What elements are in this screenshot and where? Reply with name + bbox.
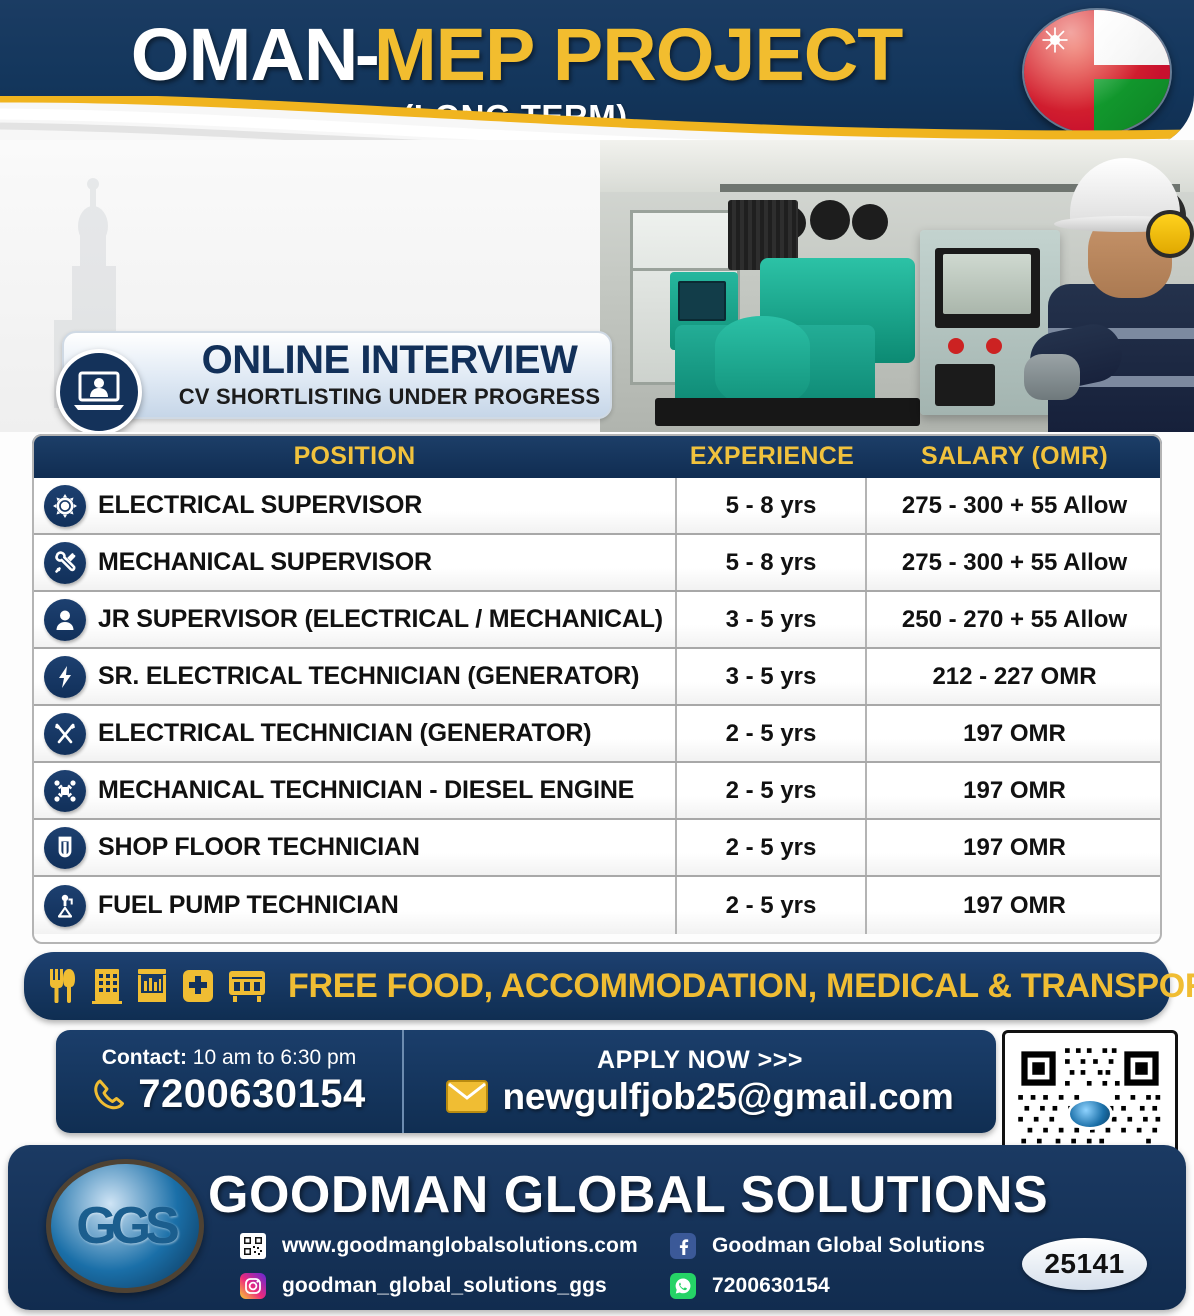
- page-subtitle: (LONG TERM): [0, 98, 1030, 136]
- table-row: FUEL PUMP TECHNICIAN 2 - 5 yrs 197 OMR: [32, 877, 1162, 934]
- cutlery-icon: [48, 967, 78, 1005]
- experience-value: 2 - 5 yrs: [726, 834, 817, 862]
- facebook-name: Goodman Global Solutions: [712, 1234, 985, 1258]
- crossed-tools-icon: [44, 713, 86, 755]
- bus-icon: [228, 968, 266, 1004]
- table-row: MECHANICAL TECHNICIAN - DIESEL ENGINE 2 …: [32, 763, 1162, 820]
- position-label: JR SUPERVISOR (ELECTRICAL / MECHANICAL): [98, 605, 663, 634]
- footer-instagram[interactable]: goodman_global_solutions_ggs: [240, 1273, 670, 1299]
- medical-cross-icon: [181, 968, 215, 1004]
- apply-now-label: APPLY NOW >>>: [597, 1046, 803, 1075]
- instagram-icon: [240, 1273, 266, 1299]
- magnet-icon: [44, 827, 86, 869]
- salary-value: 212 - 227 OMR: [932, 663, 1096, 691]
- company-name: GOODMAN GLOBAL SOLUTIONS: [208, 1165, 1048, 1225]
- ggs-globe-logo: [1070, 1101, 1110, 1127]
- table-header-row: POSITION EXPERIENCE SALARY (OMR): [32, 434, 1162, 478]
- experience-value: 3 - 5 yrs: [726, 663, 817, 691]
- worker-figure: [1030, 158, 1194, 432]
- footer-links: www.goodmanglobalsolutions.com Goodman G…: [240, 1233, 1120, 1299]
- salary-value: 197 OMR: [963, 892, 1066, 920]
- salary-value: 197 OMR: [963, 834, 1066, 862]
- position-label: SHOP FLOOR TECHNICIAN: [98, 833, 420, 862]
- facebook-icon: [670, 1233, 696, 1259]
- experience-value: 3 - 5 yrs: [726, 606, 817, 634]
- column-header-position: POSITION: [32, 442, 677, 471]
- contact-bar: Contact: 10 am to 6:30 pm 7200630154 APP…: [56, 1030, 996, 1133]
- table-row: ELECTRICAL SUPERVISOR 5 - 8 yrs 275 - 30…: [32, 478, 1162, 535]
- experience-value: 5 - 8 yrs: [726, 492, 817, 520]
- salary-value: 250 - 270 + 55 Allow: [902, 606, 1127, 634]
- footer-bar: GGS GOODMAN GLOBAL SOLUTIONS www.goodman…: [8, 1145, 1186, 1310]
- benefits-text: FREE FOOD, ACCOMMODATION, MEDICAL & TRAN…: [288, 967, 1194, 1006]
- position-label: ELECTRICAL SUPERVISOR: [98, 491, 422, 520]
- position-label: MECHANICAL SUPERVISOR: [98, 548, 432, 577]
- website-url: www.goodmanglobalsolutions.com: [282, 1234, 638, 1258]
- store-icon: [136, 967, 168, 1005]
- highlight-pills: ONLINE INTERVIEW CV SHORTLISTING UNDER P…: [10, 325, 620, 432]
- footer-website[interactable]: www.goodmanglobalsolutions.com: [240, 1233, 670, 1259]
- fuel-pump-icon: [44, 885, 86, 927]
- poster-header: OMAN - MEP PROJECT (LONG TERM): [0, 0, 1194, 150]
- contact-hours: 10 am to 6:30 pm: [187, 1046, 356, 1069]
- lightning-bolt-icon: [44, 656, 86, 698]
- position-label: ELECTRICAL TECHNICIAN (GENERATOR): [98, 719, 591, 748]
- title-country: OMAN: [131, 12, 358, 97]
- oman-flag-badge: [1022, 8, 1172, 136]
- ggs-globe-logo: GGS: [46, 1159, 204, 1293]
- salary-value: 197 OMR: [963, 777, 1066, 805]
- poster-root: OMAN - MEP PROJECT (LONG TERM): [0, 0, 1194, 1316]
- cv-shortlisting-subtitle: CV SHORTLISTING UNDER PROGRESS: [169, 384, 610, 410]
- whatsapp-icon: [670, 1273, 696, 1299]
- contact-hours-label: Contact: 10 am to 6:30 pm: [102, 1046, 356, 1070]
- gear-icon: [44, 485, 86, 527]
- online-interview-title: ONLINE INTERVIEW: [169, 340, 610, 380]
- column-header-experience: EXPERIENCE: [677, 442, 867, 471]
- envelope-icon: [446, 1080, 488, 1113]
- column-header-salary: SALARY (OMR): [867, 442, 1162, 471]
- contact-word: Contact:: [102, 1046, 187, 1069]
- experience-value: 5 - 8 yrs: [726, 549, 817, 577]
- contact-phone-block[interactable]: Contact: 10 am to 6:30 pm 7200630154: [56, 1030, 404, 1133]
- salary-value: 275 - 300 + 55 Allow: [902, 549, 1127, 577]
- wrench-spanner-icon: [44, 542, 86, 584]
- experience-value: 2 - 5 yrs: [726, 777, 817, 805]
- benefits-bar: FREE FOOD, ACCOMMODATION, MEDICAL & TRAN…: [24, 952, 1170, 1020]
- position-label: MECHANICAL TECHNICIAN - DIESEL ENGINE: [98, 776, 634, 805]
- table-row: SHOP FLOOR TECHNICIAN 2 - 5 yrs 197 OMR: [32, 820, 1162, 877]
- online-interview-pill: ONLINE INTERVIEW CV SHORTLISTING UNDER P…: [62, 331, 612, 419]
- position-label: SR. ELECTRICAL TECHNICIAN (GENERATOR): [98, 662, 639, 691]
- table-row: JR SUPERVISOR (ELECTRICAL / MECHANICAL) …: [32, 592, 1162, 649]
- experience-value: 2 - 5 yrs: [726, 892, 817, 920]
- generator-worker-photo: [600, 140, 1194, 432]
- reference-number-badge: 25141: [1022, 1238, 1147, 1290]
- contact-phone-number: 7200630154: [138, 1072, 365, 1117]
- table-row: ELECTRICAL TECHNICIAN (GENERATOR) 2 - 5 …: [32, 706, 1162, 763]
- engine-piston-icon: [44, 770, 86, 812]
- position-label: FUEL PUMP TECHNICIAN: [98, 891, 399, 920]
- contact-email-address: newgulfjob25@gmail.com: [502, 1076, 953, 1118]
- person-icon: [44, 599, 86, 641]
- contact-email-block[interactable]: APPLY NOW >>> newgulfjob25@gmail.com: [404, 1030, 996, 1133]
- jobs-table: POSITION EXPERIENCE SALARY (OMR) ELECTRI…: [32, 434, 1162, 934]
- logo-initials: GGS: [76, 1196, 174, 1256]
- table-row: SR. ELECTRICAL TECHNICIAN (GENERATOR) 3 …: [32, 649, 1162, 706]
- salary-value: 197 OMR: [963, 720, 1066, 748]
- experience-value: 2 - 5 yrs: [726, 720, 817, 748]
- laptop-interview-icon: [56, 349, 142, 432]
- page-title: OMAN - MEP PROJECT: [0, 12, 1030, 97]
- building-icon: [91, 967, 123, 1005]
- title-project: MEP PROJECT: [374, 12, 902, 97]
- whatsapp-number: 7200630154: [712, 1274, 830, 1298]
- reference-number: 25141: [1044, 1248, 1124, 1280]
- phone-icon: [92, 1077, 128, 1113]
- salary-value: 275 - 300 + 55 Allow: [902, 492, 1127, 520]
- instagram-handle: goodman_global_solutions_ggs: [282, 1274, 607, 1298]
- hero-band: ONLINE INTERVIEW CV SHORTLISTING UNDER P…: [0, 140, 1194, 432]
- website-qr-icon: [240, 1233, 266, 1259]
- table-row: MECHANICAL SUPERVISOR 5 - 8 yrs 275 - 30…: [32, 535, 1162, 592]
